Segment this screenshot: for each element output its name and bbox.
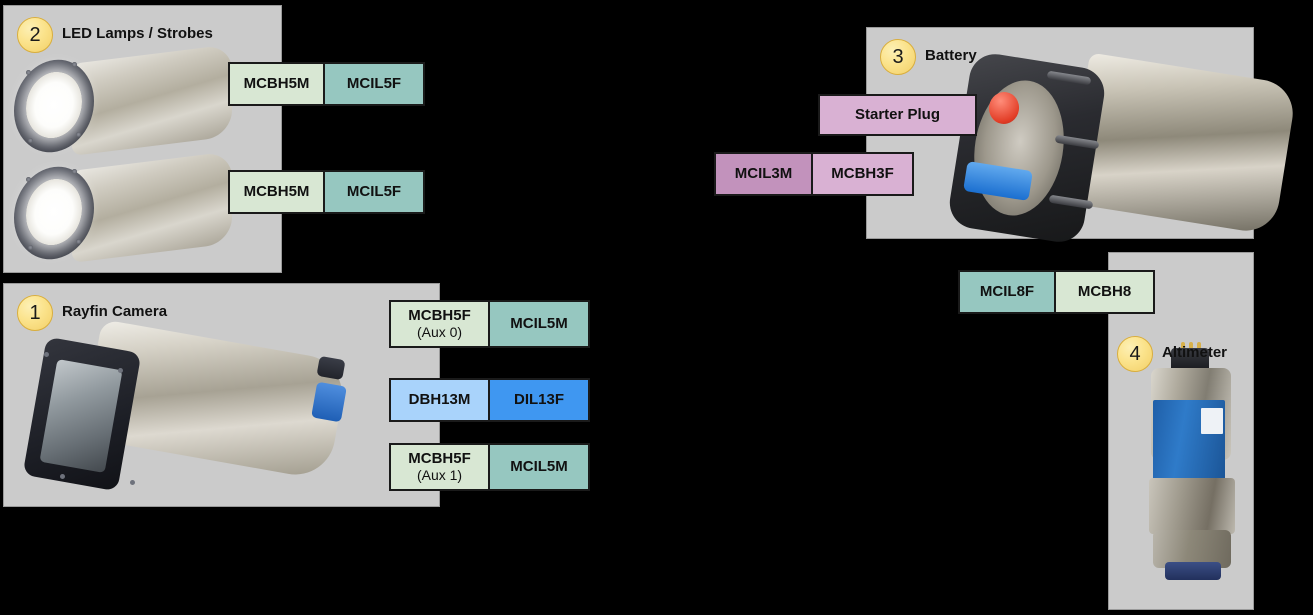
lamp-screw [28,138,33,143]
connector-bulkhead-camera-aux0[interactable]: MCBH5F (Aux 0) [389,300,490,348]
connector-label: MCIL8F [980,284,1034,301]
connector-inline-camera-data[interactable]: DIL13F [488,378,590,422]
connector-pair-camera-aux0: MCBH5F (Aux 0) MCIL5M [389,300,590,348]
lamp-housing [72,151,232,263]
connector-label: DIL13F [514,392,564,409]
connector-label: MCBH8 [1078,284,1131,301]
connector-sublabel: (Aux 1) [417,468,462,484]
camera-screw [44,352,49,357]
lamp-screw [26,177,31,182]
connector-bulkhead-battery[interactable]: MCBH3F [811,152,914,196]
connector-inline-camera-aux0[interactable]: MCIL5M [488,300,590,348]
camera-housing [81,319,348,481]
lamp-bezel [14,55,94,157]
lamp-screw [72,62,77,67]
badge-rayfin-camera: 1 [17,295,53,331]
connector-inline-camera-aux1[interactable]: MCIL5M [488,443,590,491]
panel-led-lamps: 2 LED Lamps / Strobes [3,5,282,273]
battery-face [965,74,1073,222]
lamp-screw [72,169,77,174]
battery-housing [1066,53,1297,236]
panel-title-altimeter: Altimeter [1162,344,1227,361]
altimeter-label-field [1201,408,1223,434]
altimeter-upper-body [1151,368,1231,460]
lamp-lens [26,69,82,142]
connector-label: MCIL5M [510,316,568,333]
camera-aux-connector [316,356,345,380]
battery-power-connector [963,161,1033,201]
connector-inline-altimeter[interactable]: MCIL8F [958,270,1056,314]
connector-label: MCBH5M [244,184,310,201]
connector-pair-lamp-2: MCBH5M MCIL5F [228,170,425,214]
camera-screw [118,368,123,373]
camera-front-flange [23,337,142,492]
altimeter-lower-body [1153,530,1231,568]
battery-endcap [946,50,1108,245]
connector-label: MCIL5M [510,459,568,476]
lamp-lens [26,176,82,249]
connector-inline-lamp-1[interactable]: MCIL5F [323,62,425,106]
connector-label: MCBH5M [244,76,310,93]
lamp-screw [26,70,31,75]
connector-bulkhead-altimeter[interactable]: MCBH8 [1054,270,1155,314]
panel-title-battery: Battery [925,47,977,64]
led-lamp-photo-2 [14,161,239,261]
connector-label: MCBH3F [831,166,894,183]
connector-bulkhead-lamp-2[interactable]: MCBH5M [228,170,325,214]
camera-screw [60,474,65,479]
camera-screw [130,480,135,485]
battery-starter-port [987,90,1022,126]
panel-title-rayfin-camera: Rayfin Camera [62,303,167,320]
connector-label: MCBH5F [408,451,471,468]
connector-label: Starter Plug [855,107,940,124]
connector-bulkhead-camera-data[interactable]: DBH13M [389,378,490,422]
connector-label: DBH13M [409,392,471,409]
battery-slot [1047,71,1092,86]
battery-slot [1049,195,1094,210]
badge-led-lamps: 2 [17,17,53,53]
connector-inline-lamp-2[interactable]: MCIL5F [323,170,425,214]
diagram-root: { "panels": [ { "id": "led-lamps", "badg… [0,0,1313,615]
connector-label: MCIL5F [347,76,401,93]
lamp-bezel [14,162,94,264]
panel-rayfin-camera: 1 Rayfin Camera [3,283,440,507]
battery-photo [927,46,1257,241]
altimeter-photo [1127,338,1255,588]
altimeter-transducer-face [1165,562,1221,580]
lamp-screw [28,245,33,250]
lamp-screw [76,239,81,244]
connector-inline-battery[interactable]: MCIL3M [714,152,813,196]
connector-label: MCBH5F [408,308,471,325]
camera-viewport [39,359,122,473]
badge-altimeter: 4 [1117,336,1153,372]
connector-pair-battery-power: MCIL3M MCBH3F [714,152,914,196]
connector-pair-altimeter: MCIL8F MCBH8 [958,270,1155,314]
connector-bulkhead-lamp-1[interactable]: MCBH5M [228,62,325,106]
camera-data-connector [311,382,347,423]
altimeter-mid-body [1149,478,1235,534]
connector-label: MCIL3M [735,166,793,183]
lamp-housing [72,44,232,156]
connector-pair-camera-data: DBH13M DIL13F [389,378,590,422]
panel-title-led-lamps: LED Lamps / Strobes [62,25,213,42]
altimeter-spec-label [1153,400,1225,480]
rayfin-camera-photo [22,322,362,502]
connector-battery-starter-plug: Starter Plug [818,94,977,136]
lamp-screw [76,132,81,137]
battery-slot [1055,135,1100,150]
connector-pair-lamp-1: MCBH5M MCIL5F [228,62,425,106]
badge-battery: 3 [880,39,916,75]
connector-pair-camera-aux1: MCBH5F (Aux 1) MCIL5M [389,443,590,491]
connector-bulkhead-camera-aux1[interactable]: MCBH5F (Aux 1) [389,443,490,491]
connector-label: MCIL5F [347,184,401,201]
connector-sublabel: (Aux 0) [417,325,462,341]
starter-plug-box[interactable]: Starter Plug [818,94,977,136]
led-lamp-photo-1 [14,54,239,154]
